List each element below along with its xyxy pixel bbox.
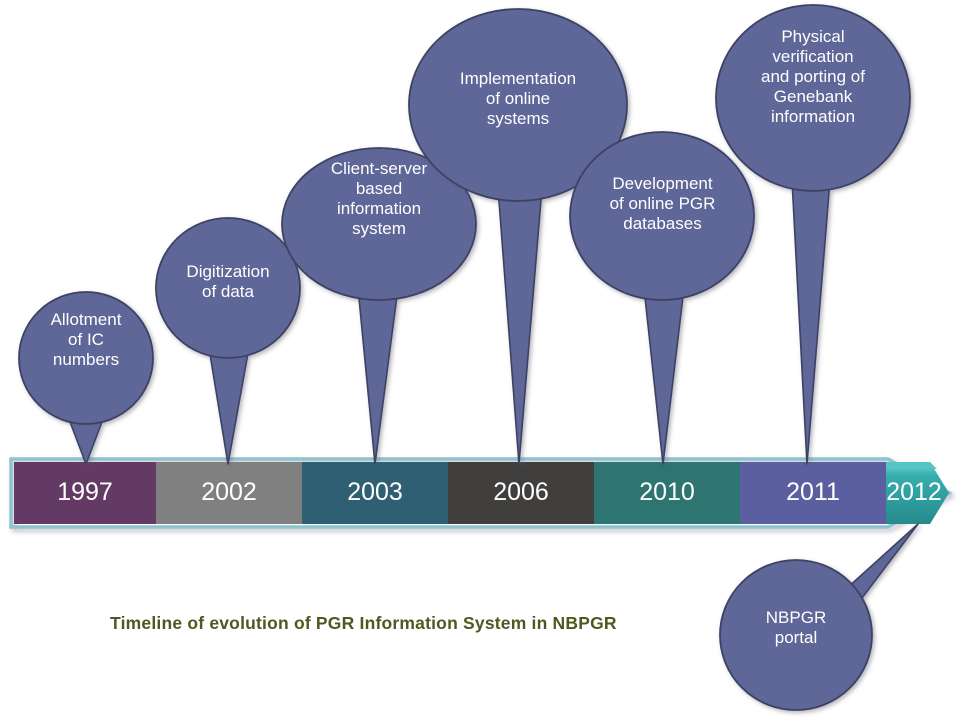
callout-2003-tail — [358, 288, 398, 464]
timeline-segment-1997[interactable] — [14, 462, 156, 524]
callout-2012-body[interactable] — [720, 560, 872, 710]
arrow-highlight — [886, 462, 937, 469]
callout-2002[interactable] — [156, 218, 300, 464]
callout-2011-body[interactable] — [716, 5, 910, 191]
callout-1997-body[interactable] — [19, 292, 153, 424]
timeline-diagram: 1997200220032006201020112012Allotment of… — [0, 0, 960, 720]
timeline-segment-2011[interactable] — [740, 462, 886, 524]
callout-2002-body[interactable] — [156, 218, 300, 358]
callout-2002-tail — [208, 342, 250, 464]
callout-2012[interactable] — [720, 524, 918, 710]
callout-2006-tail — [498, 188, 542, 464]
timeline-bar — [11, 459, 949, 527]
callout-2011-tail — [792, 180, 830, 464]
callout-2010-tail — [644, 288, 684, 464]
diagram-caption: Timeline of evolution of PGR Information… — [110, 613, 670, 634]
timeline-segment-2003[interactable] — [302, 462, 448, 524]
callout-2010-body[interactable] — [570, 132, 754, 300]
callout-2010[interactable] — [570, 132, 754, 464]
timeline-segment-2006[interactable] — [448, 462, 594, 524]
callout-1997[interactable] — [19, 292, 153, 464]
timeline-segment-2002[interactable] — [156, 462, 302, 524]
callout-bubbles — [19, 5, 918, 710]
callout-2003[interactable] — [282, 148, 476, 464]
diagram-vector-layer — [0, 0, 960, 720]
timeline-segment-2010[interactable] — [594, 462, 740, 524]
timeline-segment-2012[interactable] — [886, 462, 949, 524]
